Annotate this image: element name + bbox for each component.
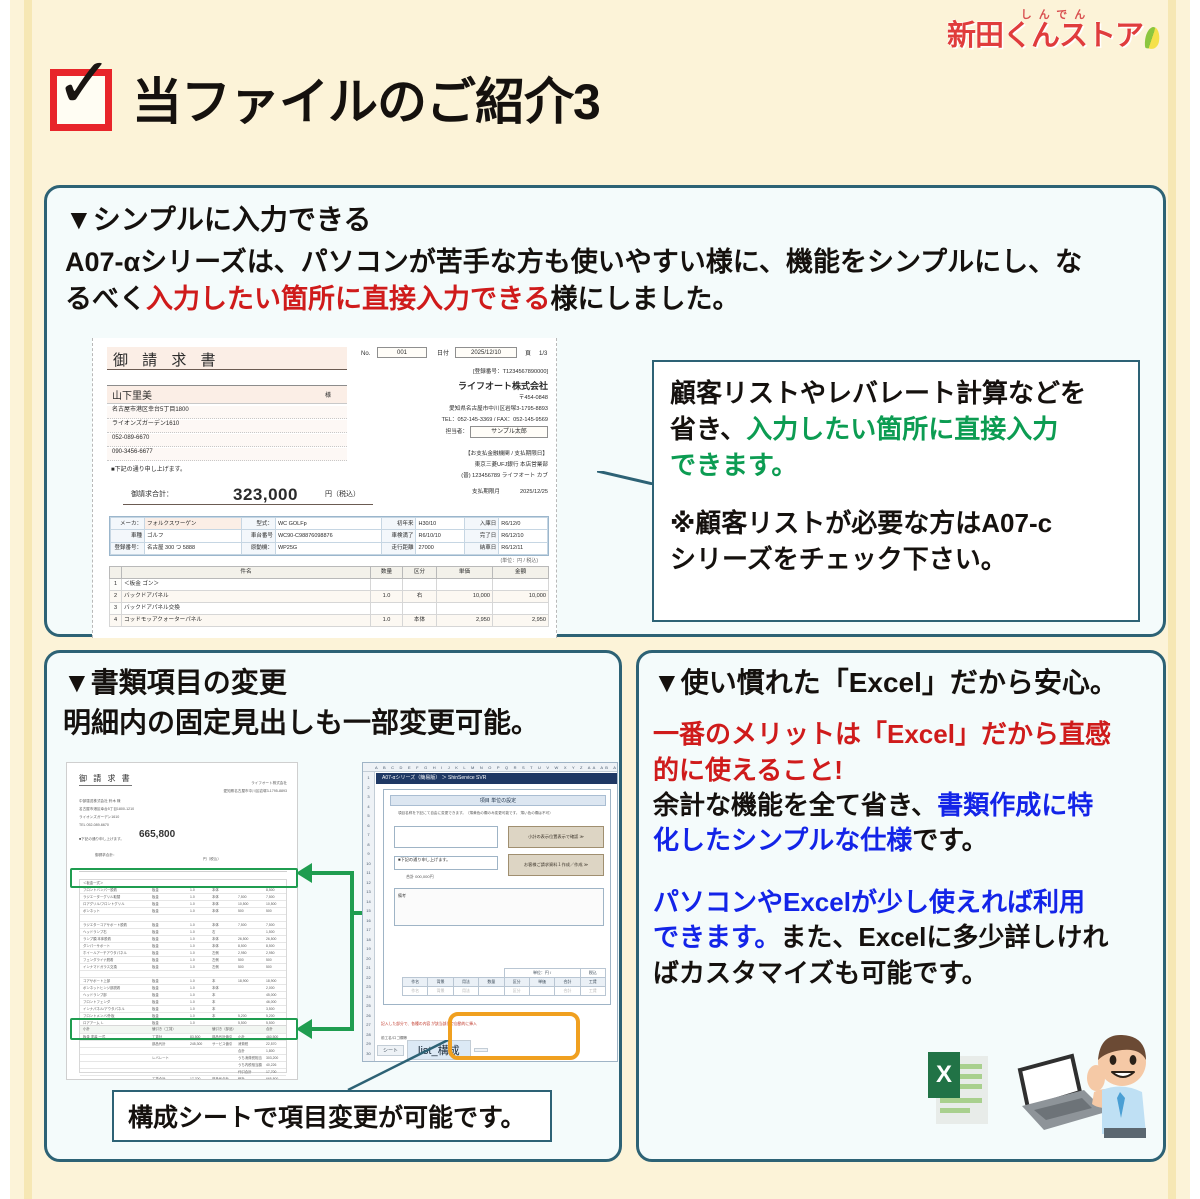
- mini-h2: 用法: [453, 978, 478, 987]
- item-kbn: [403, 579, 437, 591]
- row-c5: 18,900: [266, 978, 276, 985]
- row-name: フロントバンパー脱着: [83, 888, 117, 892]
- logo-text: 新田くんストア: [947, 22, 1160, 51]
- table-row: 車種 ゴルフ 車台番号 WC90-C98876098876 車検満了 R6/10…: [111, 530, 548, 542]
- store-logo: しんでん 新田くんストア: [947, 10, 1160, 51]
- vehicle-v-3: 名古屋 300 つ 5888: [145, 542, 242, 554]
- invoice-no-value: 001: [377, 347, 427, 358]
- br-p3-black2: ばカスタマイズも可能です。: [653, 958, 988, 988]
- list-item: [80, 971, 286, 978]
- row-name: フロントフェンダ: [83, 1000, 110, 1004]
- invoice-address: 愛知県名古屋市中川区岩塚3-1795-8893: [449, 405, 548, 413]
- row-c1: 板金: [152, 908, 159, 915]
- excel-memo-box[interactable]: [394, 888, 604, 926]
- summary-g: 1,800: [266, 1048, 275, 1055]
- item-name: コッドモッアクォーターパネル: [122, 615, 371, 627]
- row-c2: 1.0: [190, 957, 195, 964]
- callout-pointer-line: [597, 471, 653, 485]
- row-c3: 右: [212, 929, 215, 936]
- callout-paragraph-1: 顧客リストやレバレート計算などを 省き、入力したい箇所に直接入力 できます。: [670, 376, 1122, 484]
- row-c4: 7,500: [238, 922, 247, 929]
- vehicle-v-2: ゴルフ: [145, 530, 242, 542]
- summary-f: 総計: [238, 1076, 245, 1080]
- vehicle-k3-3: 走行距離: [382, 542, 416, 554]
- row-c4: 26,500: [238, 936, 248, 943]
- vehicle-k-1: メーカ：: [111, 518, 145, 530]
- mini-r0: 作名: [403, 987, 428, 996]
- callout-paragraph-2: ※顧客リストが必要な方はA07-c シリーズをチェック下さい。: [670, 506, 1122, 578]
- row-c4: 500: [238, 957, 244, 964]
- items-col-unit: 単価: [437, 567, 493, 579]
- mini-r2: 用法: [453, 987, 478, 996]
- callout-p2-line2: シリーズをチェック下さい。: [670, 544, 1007, 574]
- row-c3: 本体: [212, 908, 219, 915]
- mini-r4: 区分: [504, 987, 529, 996]
- row-c3: 本体: [212, 922, 219, 929]
- doc-shot-note: ■下記の通り申し上げます。: [79, 837, 124, 842]
- invoice-title: 御 請 求 書: [107, 347, 347, 370]
- items-col-index: [110, 567, 122, 579]
- summary-f: 消費税: [238, 1041, 248, 1048]
- vehicle-k4-1: 入庫日: [465, 518, 499, 530]
- doc-shot-cust: 中部運送株式会社 鈴木 様: [79, 799, 121, 804]
- row-c3: 本体: [212, 901, 219, 908]
- vehicle-k-3: 登録番号：: [111, 542, 145, 554]
- vehicle-v3-3: 27000: [416, 542, 465, 554]
- summary-b: レバレート: [152, 1055, 169, 1062]
- vehicle-v4-2: R6/12/10: [499, 530, 548, 542]
- row-c4: 500: [238, 964, 244, 971]
- row-c2: 1.0: [190, 985, 195, 992]
- mini-r7: 工賃: [580, 987, 605, 996]
- table-row: 1 ＜板金 ゴン＞: [110, 579, 549, 591]
- row-c2: 1.0: [190, 1006, 195, 1013]
- item-qty: 1.0: [371, 615, 403, 627]
- list-item: インナパネル/アウタパネル 板金 1.0 本 3,500: [80, 1006, 286, 1013]
- item-amt: 10,000: [493, 591, 549, 603]
- summary-row: 代引合計 17,700: [80, 1069, 286, 1076]
- invoice-customer-tel: 052-089-6670: [107, 434, 347, 447]
- doc-shot-addr3: 愛知県名古屋市中川区岩塚3-1795-8893: [223, 789, 287, 794]
- mini-blank: [403, 969, 505, 978]
- vehicle-v-1: フォルクスワーゲン: [145, 518, 242, 530]
- summary-f: うち消費税相当: [238, 1055, 262, 1062]
- vehicle-k2-1: 型式：: [241, 518, 275, 530]
- doc-shot-company: ライフオート株式会社: [251, 781, 287, 786]
- item-unit: 2,950: [437, 615, 493, 627]
- list-item: ヘッドランプ右 板金 1.0 右 1,500: [80, 929, 286, 936]
- row-c1: 板金: [152, 992, 159, 999]
- doc-shot-total-label: 御請求合計：: [95, 853, 117, 858]
- invoice-customer-name: 山下里美: [112, 389, 152, 404]
- mini-h5: 単価: [529, 978, 554, 987]
- list-item: ヘッドランプ部 板金 1.0 本 45,000: [80, 992, 286, 999]
- line2-pre: るべく: [65, 284, 146, 314]
- row-c3: 本体: [212, 894, 219, 901]
- row-c5: 500: [266, 908, 272, 915]
- invoice-tel-fax: TEL：052-145-3369 / FAX：052-145-9569: [442, 416, 548, 424]
- excel-column-headers: A B C D E F G H I J K L M N O P Q R S T …: [363, 763, 618, 772]
- list-item: ロアグリル/フロントグリル 板金 1.0 本体 10,500 10,500: [80, 901, 286, 908]
- right-edge-stripe: [1168, 0, 1176, 1199]
- invoice-vehicle-table: メーカ： フォルクスワーゲン 型式： WC GOLFp 初年来 H30/10 入…: [109, 516, 549, 556]
- invoice-staff-label: 担当者：: [446, 428, 468, 436]
- item-name: バックドアパネル交換: [122, 603, 371, 615]
- page-title: 当ファイルのご紹介3: [132, 62, 600, 138]
- list-item: ホイールアーチアウタパネル 板金 1.0 左側 2,950 2,950: [80, 950, 286, 957]
- invoice-items-table: 件名 数量 区分 単価 金額 1 ＜板金 ゴン＞ 2 バックドアパネル: [109, 566, 549, 627]
- callout-p2-line1: ※顧客リストが必要な方はA07-c: [670, 508, 1052, 538]
- row-c4: 7,500: [238, 894, 247, 901]
- list-item: ボンネット 板金 1.0 本体 500 500: [80, 908, 286, 915]
- row-name: ボンネットヒンジ部脱着: [83, 986, 120, 990]
- excel-memo-label: 備考: [398, 894, 406, 898]
- callout-p1-green: 入力したい箇所に直接入力: [746, 414, 1058, 444]
- mini-h4: 区分: [504, 978, 529, 987]
- highlight-box-summary-row: [70, 1018, 298, 1040]
- invoice-staff-value: サンプル太郎: [470, 426, 548, 438]
- row-c3: 本: [212, 1006, 215, 1013]
- row-c1: 板金: [152, 943, 159, 950]
- invoice-total-rule: [123, 504, 373, 505]
- invoice-page-value: 1/3: [539, 350, 547, 359]
- highlight-box-header-row: [70, 868, 298, 888]
- row-c5: 46,000: [266, 999, 276, 1006]
- summary-c: 17,700: [190, 1076, 200, 1080]
- doc-shot-title: 御 請 求 書: [79, 773, 132, 786]
- mini-tax-header: 税込: [580, 969, 605, 978]
- row-c2: 1.0: [190, 929, 195, 936]
- excel-title-bar: A07-αシリーズ（簡易版） ＞ ShinService SVR: [376, 773, 618, 784]
- table-row: メーカ： フォルクスワーゲン 型式： WC GOLFp 初年来 H30/10 入…: [111, 518, 548, 530]
- row-c2: 1.0: [190, 901, 195, 908]
- invoice-bank-line2: (普) 123456789 ライフオート カブ: [461, 472, 548, 480]
- row-c4: 2,950: [238, 950, 247, 957]
- row-c1: 板金: [152, 1006, 159, 1013]
- invoice-date-value: 2025/12/10: [455, 347, 517, 358]
- row-c5: 26,500: [266, 936, 276, 943]
- invoice-company: ライフオート株式会社: [458, 380, 548, 394]
- items-col-amt: 金額: [493, 567, 549, 579]
- item-amt: [493, 603, 549, 615]
- infographic-page: しんでん 新田くんストア ✓ 当ファイルのご紹介3 ▼シンプルに入力できる A0…: [0, 0, 1200, 1199]
- row-c1: 板金: [152, 999, 159, 1006]
- vehicle-v4-1: R6/12/0: [499, 518, 548, 530]
- table-row: 2 バックドアパネル 1.0 右 10,000 10,000: [110, 591, 549, 603]
- list-item: フェンダライナ脱着 板金 1.0 左側 500 500: [80, 957, 286, 964]
- row-c5: 7,500: [266, 922, 275, 929]
- row-c3: 本体: [212, 936, 219, 943]
- summary-g: 40,226: [266, 1062, 276, 1069]
- summary-f: 代引合計: [238, 1069, 252, 1076]
- invoice-preview: 御 請 求 書 山下里美 様 名古屋市港区幸台5丁目1800 ライオンズガーデン…: [92, 338, 557, 638]
- row-c2: 1.0: [190, 936, 195, 943]
- item-index: 4: [110, 615, 122, 627]
- row-c1: 板金: [152, 936, 159, 943]
- row-c4: 10,500: [238, 901, 248, 908]
- mini-unit-header: 単位：円 /: [504, 969, 580, 978]
- vehicle-k4-3: 納車日: [465, 542, 499, 554]
- item-qty: 1.0: [371, 591, 403, 603]
- invoice-bank-line1: 東京三菱UFJ銀行 本店営業部: [475, 461, 548, 469]
- invoice-bank-header: 【お支払金融機関 / 支払期限日】: [465, 450, 548, 458]
- invoice-customer-addr-2: ライオンズガーデン1610: [107, 420, 347, 433]
- row-c3: 左側: [212, 950, 219, 957]
- row-name: インナマドガラス交換: [83, 965, 117, 969]
- vehicle-v2-1: WC GOLFp: [275, 518, 382, 530]
- invoice-date-label: 日付: [437, 350, 449, 359]
- callout-p1-green2: できます。: [670, 450, 797, 480]
- doc-shot-total: 665,800: [139, 829, 175, 840]
- row-c2: 1.0: [190, 908, 195, 915]
- doc-shot-addr1: 名古屋市港区幸台5丁目1800-1210: [79, 807, 134, 812]
- title-underline: [134, 129, 596, 140]
- row-c2: 1.0: [190, 894, 195, 901]
- row-c2: 1.0: [190, 978, 195, 985]
- checkmark-glyph: ✓: [55, 52, 114, 114]
- callout-box: 顧客リストやレバレート計算などを 省き、入力したい箇所に直接入力 できます。 ※…: [652, 360, 1140, 622]
- item-kbn: [403, 603, 437, 615]
- invoice-total-unit: 円（税込）: [325, 490, 360, 501]
- list-item: [80, 915, 286, 922]
- bl-subheading: 明細内の固定見出しも一部変更可能。: [63, 705, 609, 741]
- excel-button-1[interactable]: 小計の表示位置表示で確認 ≫: [508, 826, 604, 848]
- row-name: ランプ類 本体脱着: [83, 937, 111, 941]
- invoice-zip: 〒454-0848: [519, 394, 548, 402]
- row-c2: 1.0: [190, 999, 195, 1006]
- row-name: コアサポート上部: [83, 979, 110, 983]
- row-c5: 45,000: [266, 992, 276, 999]
- summary-row: レバレート うち消費税相当 303,200: [80, 1055, 286, 1062]
- summary-d: 部品代合計: [212, 1076, 229, 1080]
- br-p2-blue2: 化したシンプルな仕様: [653, 825, 912, 855]
- row-c2: 1.0: [190, 964, 195, 971]
- vehicle-k2-3: 原動機：: [241, 542, 275, 554]
- mini-h3: 数量: [479, 978, 504, 987]
- row-c1: 板金: [152, 964, 159, 971]
- summary-b: 工賃合計: [152, 1076, 166, 1080]
- title-row: ✓ 当ファイルのご紹介3: [50, 62, 600, 138]
- doc-shot-total-unit: 円（税込）: [203, 857, 221, 862]
- summary-row: 工賃合計 17,700 部品代合計 総計 665,800: [80, 1076, 286, 1080]
- row-c1: 板金: [152, 950, 159, 957]
- br-paragraph-2: パソコンやExcelが少し使えれば利用 できます。また、Excelに多少詳しけれ…: [653, 885, 1153, 991]
- br-p2-black2: です。: [912, 825, 987, 855]
- list-item: ラジエーターグリル取替 板金 1.0 本体 7,500 7,500: [80, 894, 286, 901]
- row-c5: 2,950: [266, 950, 275, 957]
- row-c1: 板金: [152, 922, 159, 929]
- excel-icon-bar-5: [940, 1108, 970, 1113]
- table-row: 登録番号： 名古屋 300 つ 5888 原動機： WP25G 走行距離 270…: [111, 542, 548, 554]
- page-title-text: 当ファイルのご紹介3: [132, 74, 600, 130]
- summary-row: うち内税相当額 40,226: [80, 1062, 286, 1069]
- mini-h7: 工賃: [580, 978, 605, 987]
- row-name: フェンダライナ脱着: [83, 958, 113, 962]
- invoice-customer-addr-1: 名古屋市港区幸台5丁目1800: [107, 406, 347, 419]
- row-name: ボンネット: [83, 909, 100, 913]
- item-index: 1: [110, 579, 122, 591]
- invoice-total-label: 御請求合計：: [131, 490, 173, 501]
- excel-icon-bar-4: [940, 1098, 982, 1103]
- excel-input-3-label: 合計 000,000円: [406, 874, 434, 880]
- caption-connector-line: [340, 1040, 450, 1092]
- summary-g: 17,700: [266, 1069, 276, 1076]
- callout-p1-pre: 顧客リストやレバレート計算などを: [670, 378, 1086, 408]
- vehicle-k3-2: 車検満了: [382, 530, 416, 542]
- invoice-reg-no: [登録番号：T1234567890000]: [473, 368, 548, 376]
- row-c3: 本体: [212, 985, 219, 992]
- line2-post: 様にしました。: [550, 284, 739, 314]
- callout-p1-pre2: 省き、: [670, 414, 746, 444]
- line2-red: 入力したい箇所に直接入力できる: [146, 284, 550, 314]
- row-c5: 500: [266, 957, 272, 964]
- summary-g: 303,200: [266, 1055, 278, 1062]
- row-name: ヘッドランプ部: [83, 993, 107, 997]
- row-name: ヘッドランプ右: [83, 930, 107, 934]
- row-c3: 本体: [212, 887, 219, 894]
- vehicle-k-2: 車種: [111, 530, 145, 542]
- item-index: 2: [110, 591, 122, 603]
- excel-section-title: 項目 単位の設定: [390, 795, 606, 806]
- vehicle-v3-1: H30/10: [416, 518, 465, 530]
- excel-icon-badge: X: [928, 1052, 960, 1098]
- row-c3: 左側: [212, 957, 219, 964]
- caption-box: 構成シートで項目変更が可能です。: [112, 1090, 552, 1142]
- row-c5: 8,500: [266, 887, 275, 894]
- br-p3-blue2: できます。: [653, 922, 780, 952]
- br-p2-black: 余計な機能を全て省き、: [653, 790, 937, 820]
- list-item: ランプ類 本体脱着 板金 1.0 本体 26,500 26,500: [80, 936, 286, 943]
- excel-input-1[interactable]: [394, 826, 498, 848]
- row-name: インナパネル/アウタパネル: [83, 1007, 125, 1011]
- br-spacer-1: [653, 701, 1153, 717]
- items-col-kbn: 区分: [403, 567, 437, 579]
- list-item: ボンネットヒンジ部脱着 板金 1.0 本体 2,000: [80, 985, 286, 992]
- br-paragraph-1: 一番のメリットは「Excel」だから直感 的に使えること! 余計な機能を全て省き…: [653, 717, 1153, 858]
- list-item: インナマドガラス交換 板金 1.0 左側 500 500: [80, 964, 286, 971]
- mini-h6: 合計: [555, 978, 580, 987]
- summary-c: 245,300: [190, 1041, 202, 1048]
- row-c5: 1,500: [266, 929, 275, 936]
- invoice-customer-mobile: 090-3456-6677: [107, 448, 347, 461]
- row-c1: 板金: [152, 894, 159, 901]
- table-row: 作名 背景 用法 区分 合計 工賃: [403, 987, 606, 996]
- invoice-unit-note: (単位：円 / 税込): [501, 558, 539, 566]
- top-panel-text: ▼シンプルに入力できる A07-αシリーズは、パソコンが苦手な方も使いやすい様に…: [65, 202, 1150, 318]
- row-c1: 板金: [152, 985, 159, 992]
- vehicle-v2-2: WC90-C98876098876: [275, 530, 382, 542]
- items-col-name: 件名: [122, 567, 371, 579]
- row-c1: 板金: [152, 901, 159, 908]
- excel-button-2[interactable]: お客様ご請求資料１作成／作成 ≫: [508, 854, 604, 876]
- row-c3: 本: [212, 999, 215, 1006]
- row-c2: 1.0: [190, 922, 195, 929]
- table-row: 3 バックドアパネル交換: [110, 603, 549, 615]
- row-c5: 10,500: [266, 901, 276, 908]
- top-panel-line2: るべく入力したい箇所に直接入力できる様にしました。: [65, 281, 1150, 318]
- excel-note: 項目名称を下記にて自由に変更できます。（薄黄色の欄のみ変更可能です。 薄い色の欄…: [398, 811, 553, 816]
- row-name: ロアグリル/フロントグリル: [83, 902, 124, 906]
- callout-spacer: [670, 484, 1122, 506]
- mini-r1: 背景: [428, 987, 453, 996]
- vehicle-v2-3: WP25G: [275, 542, 382, 554]
- br-p1-red-2: 的に使えること!: [653, 755, 843, 785]
- item-kbn: 本体: [403, 615, 437, 627]
- br-spacer-2: [653, 859, 1153, 885]
- row-c5: 2,000: [266, 985, 275, 992]
- table-header-row: 件名 数量 区分 単価 金額: [110, 567, 549, 579]
- row-c1: 板金: [152, 887, 159, 894]
- item-unit: [437, 579, 493, 591]
- row-c5: 7,500: [266, 894, 275, 901]
- row-c3: 本: [212, 992, 215, 999]
- doc-shot-addr2: ライオンズガーデン1610: [79, 815, 119, 820]
- invoice-no-label: No.: [361, 350, 370, 359]
- vehicle-k3-1: 初年来: [382, 518, 416, 530]
- br-p3-black: また、Excelに多少詳しけれ: [780, 922, 1108, 952]
- excel-row-headers: 1234567891011121314151617181920212223242…: [363, 772, 375, 1062]
- row-c5: 500: [266, 964, 272, 971]
- excel-input-2[interactable]: ■下記の通り申し上げます。: [394, 856, 498, 870]
- summary-d: サービス値引: [212, 1041, 232, 1048]
- mini-r5: [529, 987, 554, 996]
- item-kbn: 右: [403, 591, 437, 603]
- mini-h0: 作名: [403, 978, 428, 987]
- item-amt: 2,950: [493, 615, 549, 627]
- vehicle-k2-2: 車台番号: [241, 530, 275, 542]
- table-header-row: 単位：円 / 税込: [403, 969, 606, 978]
- table-row: 4 コッドモッアクォーターパネル 1.0 本体 2,950 2,950: [110, 615, 549, 627]
- summary-b: 部品代計: [152, 1041, 166, 1048]
- invoice-page-label: 頁: [525, 350, 531, 359]
- vehicle-k4-2: 完了日: [465, 530, 499, 542]
- mini-r3: [479, 987, 504, 996]
- doc-shot-tel: TEL 052-089-6670: [79, 823, 109, 827]
- row-c4: 8,500: [238, 943, 247, 950]
- top-panel-heading: ▼シンプルに入力できる: [65, 202, 1150, 238]
- doc-shot-items-grid: ＜板金一式＞ フロントバンパー脱着 板金 1.0 本体 8,500 ラジエーター…: [79, 879, 287, 1028]
- br-p1-red-1: 一番のメリットは「Excel」だから直感: [653, 719, 1111, 749]
- invoice-due-value: 2025/12/25: [520, 488, 548, 496]
- invoice-note: ■下記の通り申し上げます。: [111, 466, 186, 475]
- excel-form-area: 項目 単位の設定 項目名称を下記にて自由に変更できます。（薄黄色の欄のみ変更可能…: [383, 789, 611, 1005]
- summary-g: 22,570: [266, 1041, 276, 1048]
- vehicle-v3-2: R6/10/10: [416, 530, 465, 542]
- list-item: コアサポート上部 板金 1.0 本 18,900 18,900: [80, 978, 286, 985]
- checked-box-icon: ✓: [50, 69, 112, 131]
- summary-row: 合計 1,800: [80, 1048, 286, 1055]
- row-name: ラジエターコアサポート脱着: [83, 923, 127, 927]
- row-c2: 1.0: [190, 887, 195, 894]
- table-header-row: 作名 背景 用法 数量 区分 単価 合計 工賃: [403, 978, 606, 987]
- top-panel-line1: A07-αシリーズは、パソコンが苦手な方も使いやすい様に、機能をシンプルにし、な: [65, 244, 1150, 281]
- item-amt: [493, 579, 549, 591]
- item-unit: [437, 603, 493, 615]
- mini-r6: 合計: [555, 987, 580, 996]
- list-item: ダンパーサポート 板金 1.0 本体 8,500 8,500: [80, 943, 286, 950]
- person-with-laptop-icon: [1010, 1030, 1160, 1150]
- row-c1: 板金: [152, 978, 159, 985]
- item-qty: [371, 579, 403, 591]
- row-c1: 板金: [152, 929, 159, 936]
- item-name: ＜板金 ゴン＞: [122, 579, 371, 591]
- summary-row: 部品代計 245,300 サービス値引 消費税 22,570: [80, 1041, 286, 1048]
- list-item: フロントフェンダ 板金 1.0 本 46,000: [80, 999, 286, 1006]
- row-c3: 本: [212, 978, 215, 985]
- row-name: ダンパーサポート: [83, 944, 110, 948]
- row-c5: 8,500: [266, 943, 275, 950]
- leaf-icon: [1144, 26, 1161, 50]
